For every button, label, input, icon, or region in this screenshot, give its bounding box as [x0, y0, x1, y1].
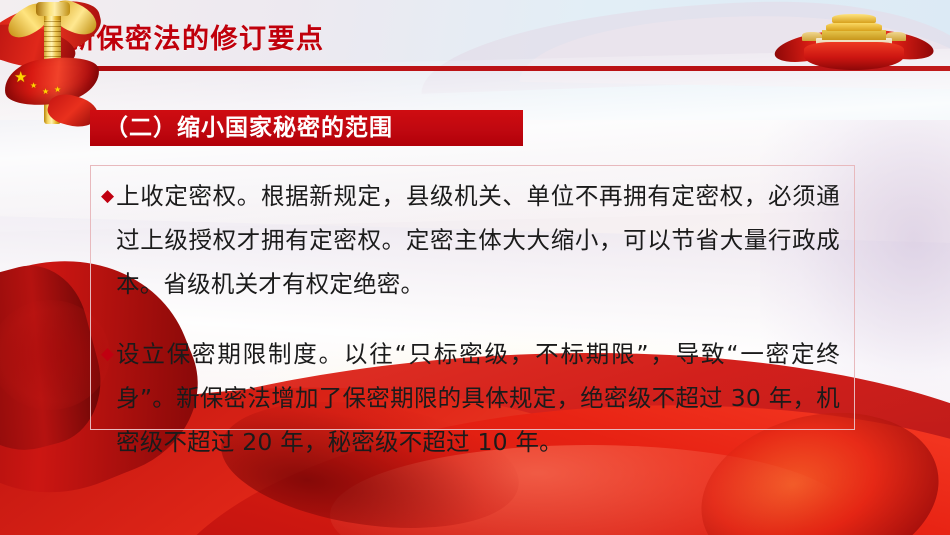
tiananmen-upper-roof [832, 14, 876, 23]
paragraph-text: 上收定密权。根据新规定，县级机关、单位不再拥有定密权，必须通过上级授权才拥有定密… [116, 174, 840, 306]
gold-column-flag-emblem: ★ ★ ★ ★ [0, 0, 96, 128]
slide-root: 新保密法的修订要点 ★ ★ ★ ★ （二）缩小国家秘密的范围 ◆ 上收 [0, 0, 950, 535]
tiananmen-gate-emblem [778, 8, 928, 70]
flag-star-small-3: ★ [54, 86, 61, 94]
content-box: ◆ 上收定密权。根据新规定，县级机关、单位不再拥有定密权，必须通过上级授权才拥有… [90, 165, 855, 430]
paragraph-text: 设立保密期限制度。以往“只标密级，不标期限”，导致“一密定终身”。新保密法增加了… [116, 332, 840, 464]
tiananmen-ribbon-center [804, 42, 904, 70]
diamond-bullet-icon: ◆ [101, 332, 114, 376]
page-title: 新保密法的修订要点 [68, 26, 325, 53]
section-banner-label: （二）缩小国家秘密的范围 [90, 117, 393, 140]
flag-star-large: ★ [14, 70, 27, 85]
diamond-bullet-icon: ◆ [101, 174, 114, 218]
tiananmen-lower-roof [826, 22, 882, 31]
bullet-paragraph: ◆ 设立保密期限制度。以往“只标密级，不标期限”，导致“一密定终身”。新保密法增… [101, 332, 840, 464]
flag-star-small-1: ★ [30, 82, 37, 90]
tiananmen-wall [822, 30, 886, 40]
emblem-column-capital [36, 2, 70, 16]
bullet-paragraph: ◆ 上收定密权。根据新规定，县级机关、单位不再拥有定密权，必须通过上级授权才拥有… [101, 174, 840, 306]
section-banner: （二）缩小国家秘密的范围 [90, 110, 523, 146]
flag-star-small-2: ★ [42, 88, 49, 96]
